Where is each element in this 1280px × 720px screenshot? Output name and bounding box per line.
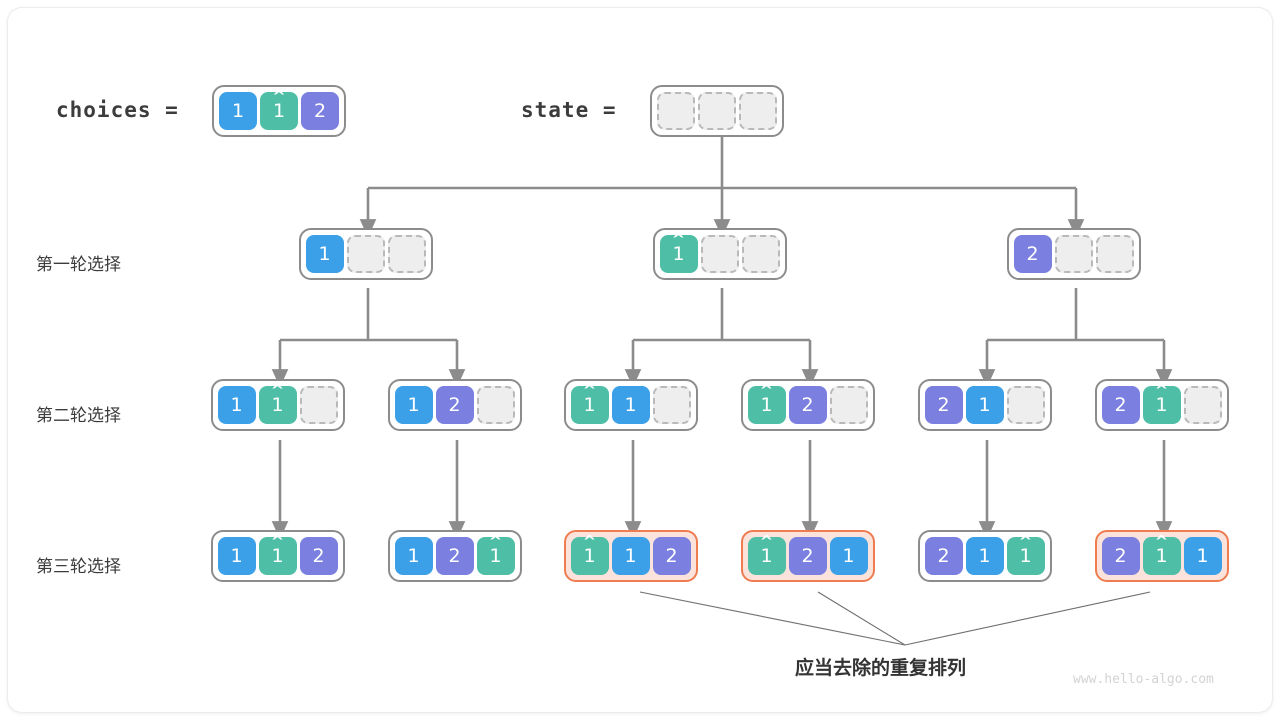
r2n6-cell-1: 1 (1143, 386, 1181, 424)
r3n2-cell-2: 1 (477, 537, 515, 575)
cell-value: 2 (312, 547, 324, 566)
state-cell-1 (698, 92, 736, 130)
tree-node-r2-n2: 12 (388, 379, 522, 431)
cell-value: 1 (842, 547, 854, 566)
cell-value-hat: 1 (760, 547, 772, 566)
row-label-2: 第二轮选择 (36, 401, 121, 426)
r3n5-cell-1: 1 (966, 537, 1004, 575)
cell-value: 1 (624, 547, 636, 566)
cell-value-hat: 1 (489, 547, 501, 566)
tree-node-r3-n3: 112 (564, 530, 698, 582)
cell-value: 2 (1026, 245, 1038, 264)
cell-value-hat: 1 (1155, 547, 1167, 566)
r1n3-cell-0: 2 (1014, 235, 1052, 273)
r2n2-cell-1: 2 (436, 386, 474, 424)
r2n2-cell-0: 1 (395, 386, 433, 424)
r3n6-cell-2: 1 (1184, 537, 1222, 575)
state-array (650, 85, 784, 137)
r1n1-cell-0: 1 (306, 235, 344, 273)
r2n2-cell-2 (477, 386, 515, 424)
r3n2-cell-1: 2 (436, 537, 474, 575)
r3n1-cell-0: 1 (218, 537, 256, 575)
cell-value: 2 (1114, 396, 1126, 415)
r2n3-cell-2 (653, 386, 691, 424)
r2n6-cell-2 (1184, 386, 1222, 424)
row-label-1: 第一轮选择 (36, 250, 121, 275)
tree-node-r1-n2: 1 (653, 228, 787, 280)
tree-node-r3-n5: 211 (918, 530, 1052, 582)
r1n1-cell-2 (388, 235, 426, 273)
cell-value-hat: 1 (583, 396, 595, 415)
r3n3-cell-2: 2 (653, 537, 691, 575)
cell-value: 2 (801, 396, 813, 415)
duplicate-caption: 应当去除的重复排列 (795, 653, 966, 680)
choices-label: choices = (56, 98, 179, 122)
r3n5-cell-2: 1 (1007, 537, 1045, 575)
r3n1-cell-2: 2 (300, 537, 338, 575)
r3n2-cell-0: 1 (395, 537, 433, 575)
tree-node-r2-n5: 21 (918, 379, 1052, 431)
r3n3-cell-0: 1 (571, 537, 609, 575)
tree-node-r2-n1: 11 (211, 379, 345, 431)
tree-node-r3-n4: 121 (741, 530, 875, 582)
tree-node-r2-n6: 21 (1095, 379, 1229, 431)
r2n5-cell-1: 1 (966, 386, 1004, 424)
watermark: www.hello-algo.com (1073, 672, 1214, 687)
r1n3-cell-1 (1055, 235, 1093, 273)
cell-value-hat: 1 (672, 245, 684, 264)
r2n3-cell-0: 1 (571, 386, 609, 424)
r3n4-cell-2: 1 (830, 537, 868, 575)
r2n3-cell-1: 1 (612, 386, 650, 424)
r2n1-cell-1: 1 (259, 386, 297, 424)
r2n1-cell-2 (300, 386, 338, 424)
cell-value: 1 (978, 547, 990, 566)
choices-cell-2: 2 (301, 92, 339, 130)
r2n5-cell-0: 2 (925, 386, 963, 424)
tree-node-r2-n3: 11 (564, 379, 698, 431)
diagram-canvas: choices = state = 112 第一轮选择 第二轮选择 第三轮选择 … (0, 0, 1280, 720)
cell-value-hat: 1 (273, 102, 285, 121)
choices-array: 112 (212, 85, 346, 137)
cell-value-hat: 1 (271, 547, 283, 566)
cell-value: 2 (665, 547, 677, 566)
r1n2-cell-2 (742, 235, 780, 273)
r2n4-cell-1: 2 (789, 386, 827, 424)
r1n2-cell-0: 1 (660, 235, 698, 273)
tree-node-r3-n1: 112 (211, 530, 345, 582)
tree-node-r1-n1: 1 (299, 228, 433, 280)
cell-value: 1 (978, 396, 990, 415)
cell-value-hat: 1 (1019, 547, 1031, 566)
cell-value: 1 (230, 547, 242, 566)
cell-value: 2 (448, 396, 460, 415)
r1n3-cell-2 (1096, 235, 1134, 273)
r1n2-cell-1 (701, 235, 739, 273)
r2n1-cell-0: 1 (218, 386, 256, 424)
cell-value-hat: 1 (760, 396, 772, 415)
r3n6-cell-1: 1 (1143, 537, 1181, 575)
cell-value: 2 (314, 102, 326, 121)
cell-value-hat: 1 (271, 396, 283, 415)
r3n5-cell-0: 2 (925, 537, 963, 575)
cell-value-hat: 1 (583, 547, 595, 566)
row-label-3: 第三轮选择 (36, 552, 121, 577)
cell-value: 1 (1196, 547, 1208, 566)
cell-value: 2 (1114, 547, 1126, 566)
tree-node-r2-n4: 12 (741, 379, 875, 431)
tree-node-r1-n3: 2 (1007, 228, 1141, 280)
r2n4-cell-2 (830, 386, 868, 424)
cell-value: 1 (407, 547, 419, 566)
cell-value: 2 (801, 547, 813, 566)
r2n4-cell-0: 1 (748, 386, 786, 424)
r3n4-cell-0: 1 (748, 537, 786, 575)
cell-value: 1 (232, 102, 244, 121)
cell-value: 1 (407, 396, 419, 415)
r2n6-cell-0: 2 (1102, 386, 1140, 424)
r2n5-cell-2 (1007, 386, 1045, 424)
cell-value: 1 (318, 245, 330, 264)
cell-value: 2 (937, 547, 949, 566)
cell-value: 1 (624, 396, 636, 415)
state-cell-0 (657, 92, 695, 130)
cell-value: 2 (448, 547, 460, 566)
tree-node-r3-n6: 211 (1095, 530, 1229, 582)
r3n3-cell-1: 1 (612, 537, 650, 575)
cell-value: 2 (937, 396, 949, 415)
choices-cell-0: 1 (219, 92, 257, 130)
choices-cell-1: 1 (260, 92, 298, 130)
r3n1-cell-1: 1 (259, 537, 297, 575)
state-cell-2 (739, 92, 777, 130)
cell-value-hat: 1 (1155, 396, 1167, 415)
r1n1-cell-1 (347, 235, 385, 273)
cell-value: 1 (230, 396, 242, 415)
r3n6-cell-0: 2 (1102, 537, 1140, 575)
tree-node-r3-n2: 121 (388, 530, 522, 582)
state-label: state = (521, 98, 617, 122)
diagram-card (8, 8, 1272, 712)
r3n4-cell-1: 2 (789, 537, 827, 575)
